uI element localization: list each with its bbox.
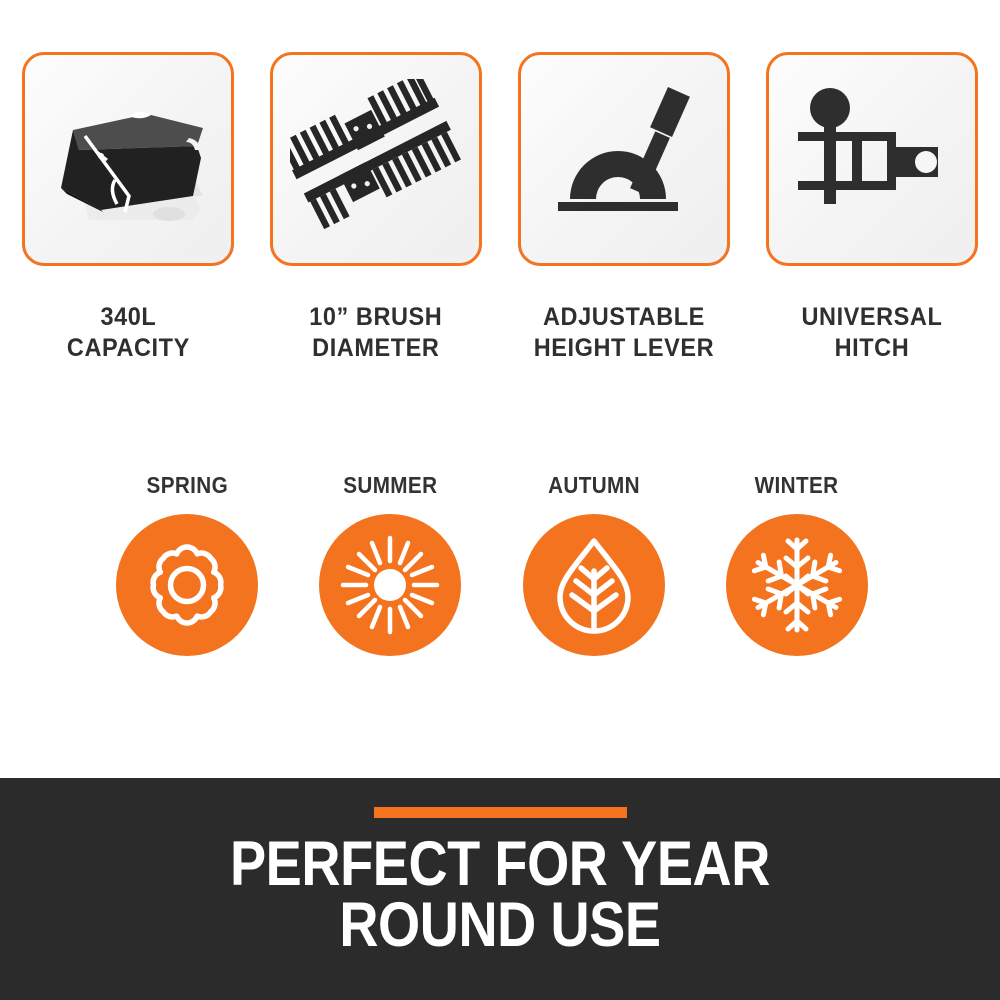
feature-brush-box: [270, 52, 482, 266]
feature-capacity-label: 340L CAPACITY: [67, 302, 190, 365]
feature-brush-label: 10” BRUSH DIAMETER: [309, 302, 442, 365]
product-feature-page: 340L CAPACITY: [0, 0, 1000, 1000]
feature-height-lever-box: [518, 52, 730, 266]
season-spring-circle: [116, 514, 258, 656]
banner-accent-rule: [374, 807, 627, 818]
feature-capacity-box: [22, 52, 234, 266]
feature-grid: 340L CAPACITY: [22, 52, 978, 365]
height-lever-icon: [544, 84, 704, 234]
bottom-banner: PERFECT FOR YEAR ROUND USE: [0, 778, 1000, 1000]
season-summer-label: SUMMER: [343, 472, 437, 499]
season-winter: WINTER: [722, 472, 872, 656]
season-winter-label: WINTER: [755, 472, 839, 499]
season-autumn: AUTUMN: [519, 472, 669, 656]
sun-icon: [340, 535, 440, 635]
feature-height-lever-label: ADJUSTABLE HEIGHT LEVER: [534, 302, 714, 365]
feature-universal-hitch: UNIVERSAL HITCH: [766, 52, 978, 365]
season-autumn-label: AUTUMN: [548, 472, 640, 499]
snowflake-icon: [747, 535, 847, 635]
seasons-row: SPRING SUMMER: [112, 472, 872, 656]
feature-hitch-label: UNIVERSAL HITCH: [802, 302, 943, 365]
season-autumn-circle: [523, 514, 665, 656]
feature-hitch-box: [766, 52, 978, 266]
season-winter-circle: [726, 514, 868, 656]
catcher-bag-icon: [43, 84, 213, 234]
season-spring-label: SPRING: [146, 472, 228, 499]
leaf-icon: [548, 535, 640, 635]
season-spring: SPRING: [112, 472, 262, 656]
banner-headline: PERFECT FOR YEAR ROUND USE: [230, 834, 770, 956]
season-summer: SUMMER: [315, 472, 465, 656]
flower-icon: [141, 539, 233, 631]
feature-height-lever: ADJUSTABLE HEIGHT LEVER: [518, 52, 730, 365]
feature-capacity: 340L CAPACITY: [22, 52, 234, 365]
season-summer-circle: [319, 514, 461, 656]
feature-brush-diameter: 10” BRUSH DIAMETER: [270, 52, 482, 365]
brush-roller-icon: [290, 79, 462, 239]
tow-hitch-icon: [790, 84, 955, 234]
